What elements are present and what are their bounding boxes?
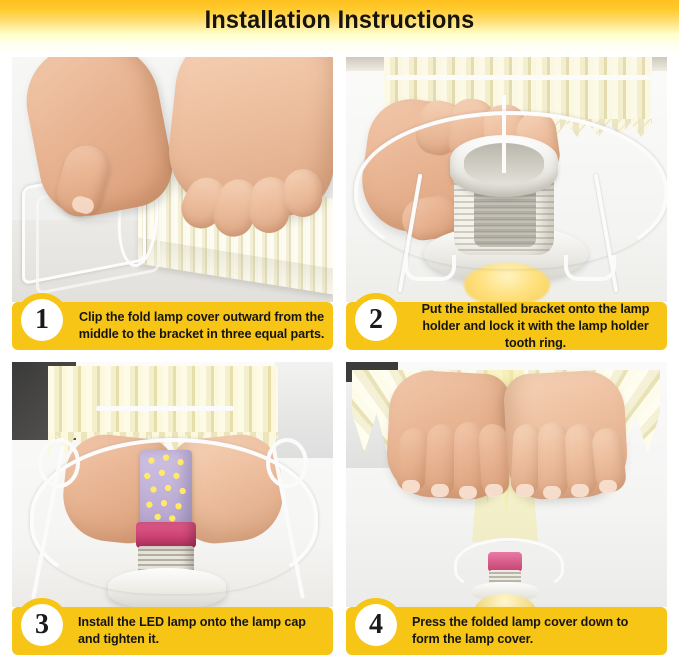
- shade-rod: [96, 406, 234, 411]
- step-card-2: Put the installed bracket onto the lamp …: [346, 57, 667, 350]
- step-4-badge: 4: [349, 598, 403, 652]
- step-card-4: Press the folded lamp cover down to form…: [346, 362, 667, 655]
- left-nail-3: [459, 486, 477, 499]
- step-2-badge: 2: [349, 293, 403, 347]
- step-2-number: 2: [355, 299, 397, 341]
- step-1-badge: 1: [15, 293, 69, 347]
- bracket-loop-right: [266, 438, 308, 488]
- bracket-foot-left: [404, 255, 456, 281]
- step-2-photo: [346, 57, 667, 302]
- step-3-text: Install the LED lamp onto the lamp cap a…: [78, 607, 325, 655]
- pleated-lamp-cover: [48, 366, 278, 438]
- step-4-number: 4: [355, 604, 397, 646]
- step-1-photo: [12, 57, 333, 302]
- right-nail-3: [571, 484, 589, 497]
- page-title: Installation Instructions: [20, 5, 658, 35]
- step-3-badge: 3: [15, 598, 69, 652]
- step-card-3: Install the LED lamp onto the lamp cap a…: [12, 362, 333, 655]
- step-card-1: Clip the fold lamp cover outward from th…: [12, 57, 333, 350]
- bracket-foot-right: [564, 255, 616, 281]
- step-3-photo: [12, 362, 333, 607]
- right-nail-1: [516, 484, 534, 497]
- right-finger-4: [283, 168, 323, 217]
- step-3-number: 3: [21, 604, 63, 646]
- bracket-loop-left: [38, 438, 80, 488]
- step-1-number: 1: [21, 299, 63, 341]
- left-nail-2: [431, 484, 449, 497]
- steps-grid: Clip the fold lamp cover outward from th…: [12, 57, 667, 662]
- step-2-text: Put the installed bracket onto the lamp …: [412, 302, 659, 350]
- right-nail-4: [599, 480, 617, 493]
- page-header: Installation Instructions: [0, 0, 679, 55]
- step-4-photo: [346, 362, 667, 607]
- wire-bracket-bow: [354, 111, 667, 269]
- step-4-text: Press the folded lamp cover down to form…: [412, 607, 659, 655]
- left-nail-4: [485, 484, 503, 497]
- right-nail-2: [543, 486, 561, 499]
- shade-rod: [386, 75, 652, 80]
- step-1-text: Clip the fold lamp cover outward from th…: [78, 302, 325, 350]
- installation-instructions-page: Installation Instructions: [0, 0, 679, 670]
- led-pink-collar: [488, 552, 522, 572]
- left-nail-1: [402, 480, 420, 493]
